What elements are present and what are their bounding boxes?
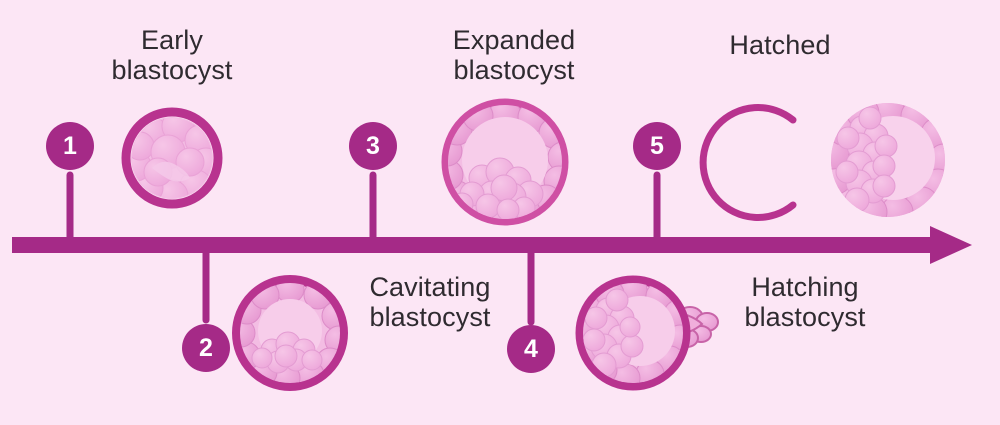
stage-marker-5[interactable]: 5 bbox=[633, 122, 681, 170]
hatched-blastocyst-icon bbox=[817, 94, 960, 228]
cavitating-blastocyst-icon bbox=[227, 275, 353, 392]
label-expanded-blastocyst: Expanded blastocyst bbox=[428, 25, 600, 85]
label-hatched: Hatched bbox=[700, 30, 860, 60]
blastocyst-timeline-figure: 1 2 3 4 5 Early blastocyst Cavitating bl… bbox=[0, 0, 1000, 425]
empty-zona-pellucida-icon bbox=[703, 108, 793, 218]
early-blastocyst-icon bbox=[121, 110, 221, 212]
stage-marker-1[interactable]: 1 bbox=[46, 122, 94, 170]
label-cavitating-blastocyst: Cavitating blastocyst bbox=[344, 272, 516, 332]
stage-marker-2[interactable]: 2 bbox=[182, 324, 230, 372]
stage-marker-4[interactable]: 4 bbox=[507, 325, 555, 373]
label-early-blastocyst: Early blastocyst bbox=[92, 25, 252, 85]
timeline-arrow-icon bbox=[930, 226, 972, 264]
label-hatching-blastocyst: Hatching blastocyst bbox=[723, 272, 887, 332]
hatching-blastocyst-icon bbox=[570, 276, 718, 392]
expanded-blastocyst-icon bbox=[432, 98, 578, 230]
stage-marker-3[interactable]: 3 bbox=[349, 122, 397, 170]
timeline-bar bbox=[12, 237, 937, 253]
